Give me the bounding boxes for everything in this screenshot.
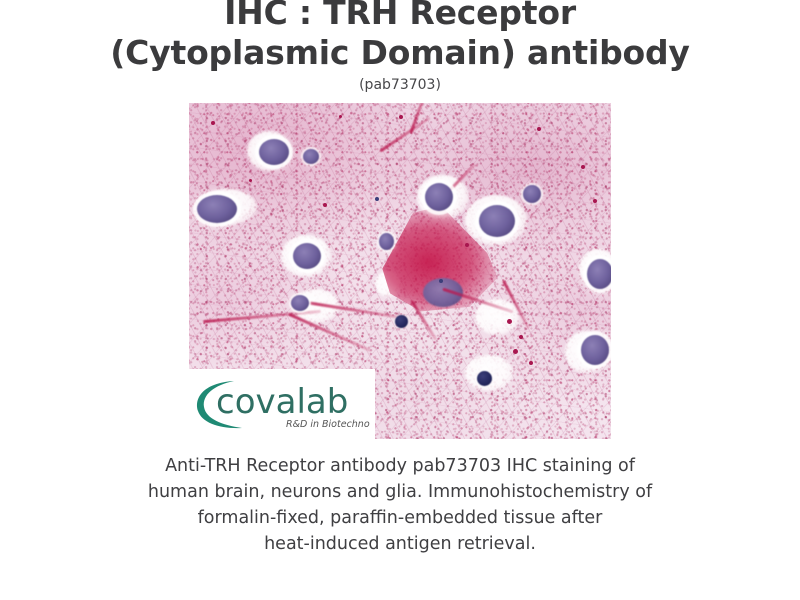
caption-line-4: heat-induced antigen retrieval. (80, 531, 720, 557)
glial-nucleus (293, 243, 321, 269)
stain-punctum (211, 121, 215, 125)
glial-nucleus (587, 259, 611, 289)
stain-punctum (439, 279, 443, 283)
glial-nucleus (259, 139, 289, 165)
glial-nucleus (523, 185, 541, 203)
page-title-line-2: (Cytoplasmic Domain) antibody (0, 33, 800, 73)
figure-caption: Anti-TRH Receptor antibody pab73703 IHC … (80, 453, 720, 557)
stain-punctum (375, 197, 379, 201)
glial-nucleus (303, 149, 319, 164)
product-image-page: IHC : TRH Receptor (Cytoplasmic Domain) … (0, 0, 800, 600)
stain-punctum (323, 203, 327, 207)
logo-tagline: R&D in Biotechnology (286, 419, 370, 430)
stain-punctum (249, 179, 252, 182)
ihc-micrograph-image: covalab R&D in Biotechnology (189, 103, 611, 439)
page-title-line-1: IHC : TRH Receptor (0, 0, 800, 33)
stain-punctum (537, 127, 541, 131)
caption-line-1: Anti-TRH Receptor antibody pab73703 IHC … (80, 453, 720, 479)
stain-punctum (529, 361, 533, 365)
stain-punctum (513, 349, 518, 354)
glial-nucleus (479, 205, 515, 237)
glial-nucleus (581, 335, 609, 365)
stain-punctum (519, 335, 523, 339)
stain-punctum (507, 319, 512, 324)
stain-punctum (399, 115, 403, 119)
glial-nucleus (197, 195, 237, 223)
stain-punctum (581, 165, 585, 169)
caption-line-2: human brain, neurons and glia. Immunohis… (80, 479, 720, 505)
stain-punctum (465, 243, 469, 247)
dark-pigment-dot (395, 315, 408, 328)
glial-nucleus (291, 295, 309, 311)
dark-pigment-dot (477, 371, 492, 386)
covalab-logo-svg: covalab R&D in Biotechnology (194, 373, 370, 435)
stain-punctum (593, 199, 597, 203)
micrograph-figure: covalab R&D in Biotechnology (189, 103, 611, 439)
glial-nucleus (379, 233, 394, 250)
glial-nucleus (425, 183, 453, 211)
stain-punctum (339, 115, 342, 118)
covalab-logo: covalab R&D in Biotechnology (189, 369, 375, 439)
catalog-number: (pab73703) (0, 76, 800, 94)
caption-line-3: formalin-fixed, paraffin-embedded tissue… (80, 505, 720, 531)
logo-wordmark: covalab (216, 382, 348, 422)
title-block: IHC : TRH Receptor (Cytoplasmic Domain) … (0, 0, 800, 94)
